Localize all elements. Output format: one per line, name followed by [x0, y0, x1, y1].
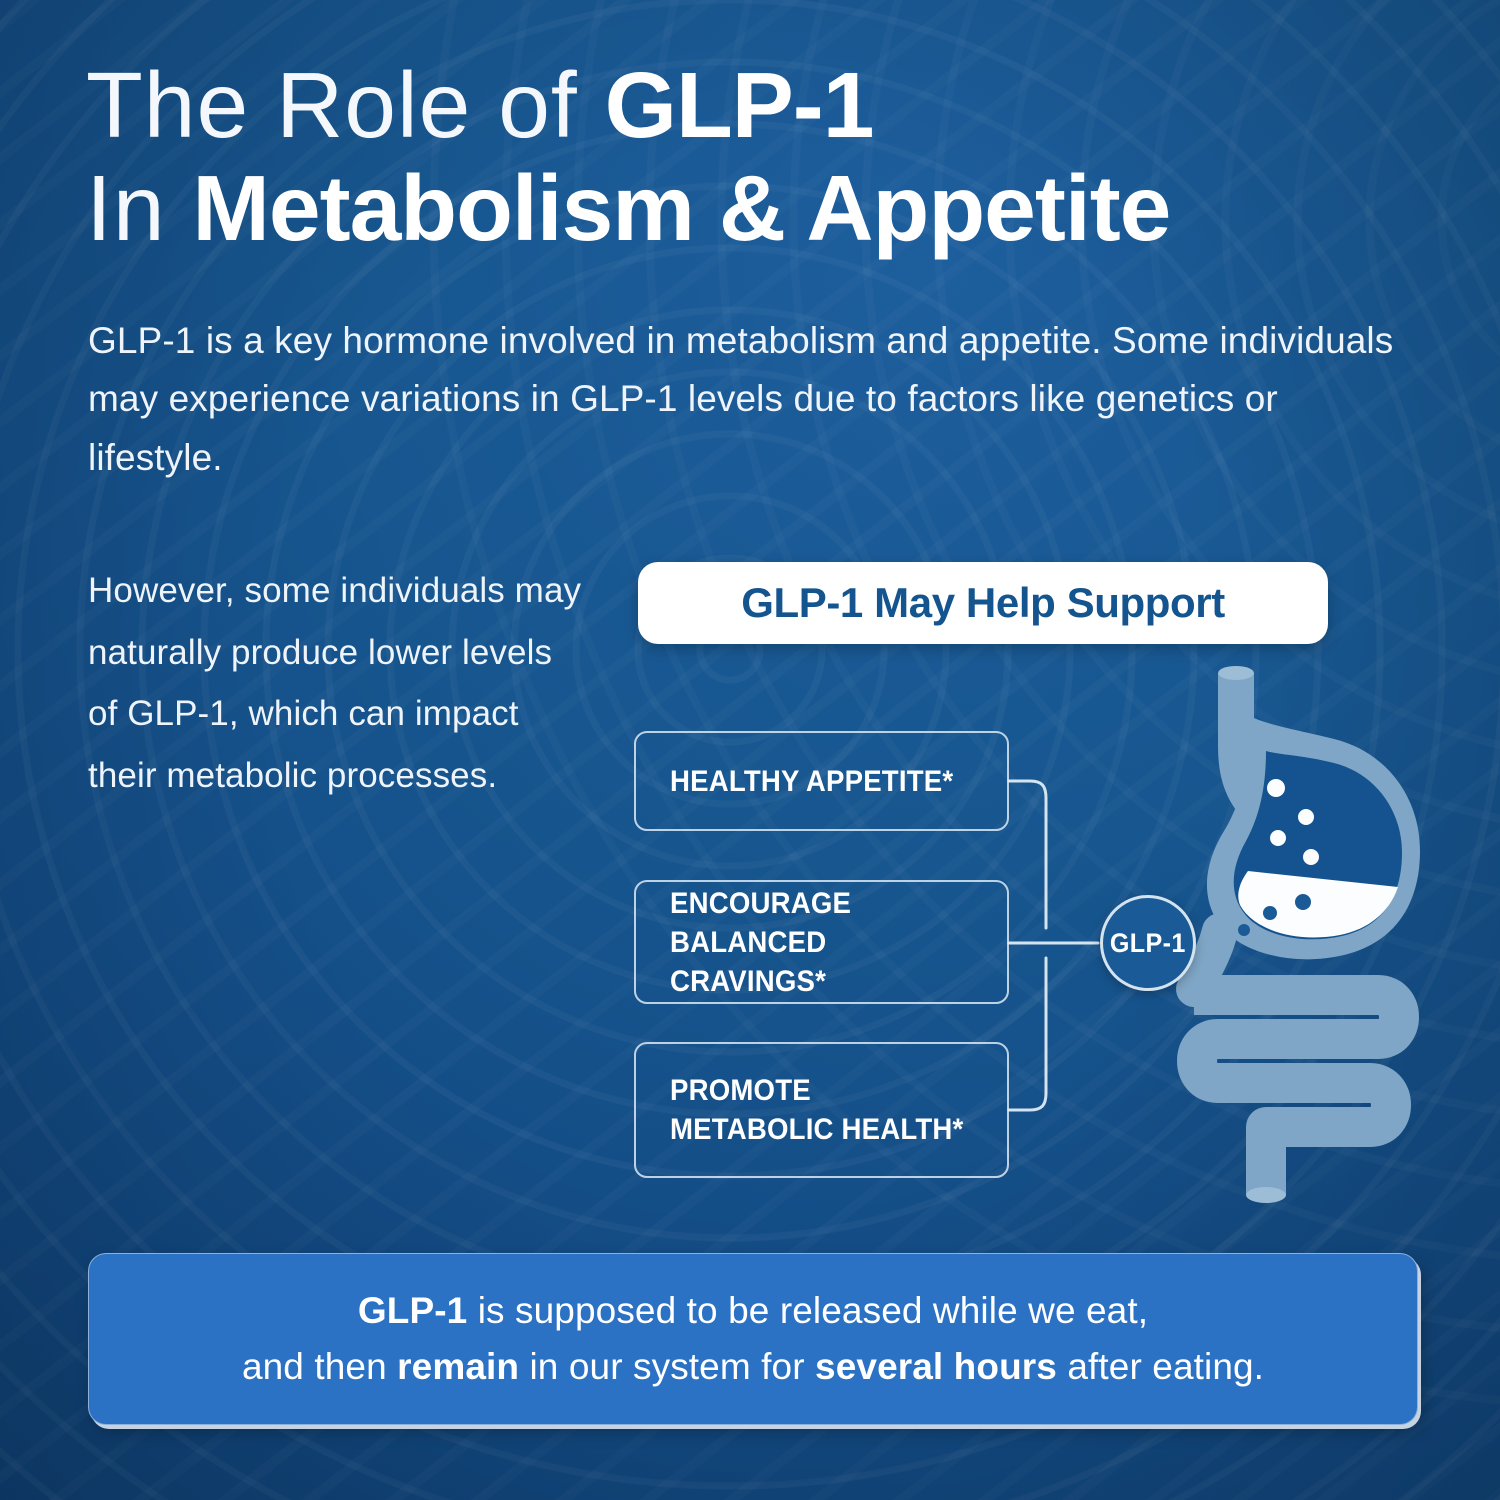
glp1-node-label: GLP-1 [1110, 928, 1186, 959]
page-title: The Role of GLP-1 In Metabolism & Appeti… [86, 58, 1426, 256]
bottom-callout-line-2-e: after eating. [1057, 1346, 1264, 1387]
title-line-1: The Role of GLP-1 [86, 58, 1426, 153]
title-line-2: In Metabolism & Appetite [86, 161, 1426, 256]
bottom-callout-text: GLP-1 is supposed to be released while w… [242, 1283, 1264, 1395]
bottom-callout-line-1: GLP-1 is supposed to be released while w… [242, 1283, 1264, 1339]
title-line-1-thin: The Role of [86, 53, 605, 157]
support-panel-header: GLP-1 May Help Support [638, 562, 1328, 644]
bottom-callout-line-2-bold-remain: remain [397, 1346, 519, 1387]
bottom-callout-banner: GLP-1 is supposed to be released while w… [88, 1253, 1418, 1425]
title-line-1-bold: GLP-1 [605, 53, 874, 157]
bottom-callout-line-2: and then remain in our system for severa… [242, 1339, 1264, 1395]
benefit-box-promote-metabolic-health[interactable]: PROMOTE METABOLIC HEALTH* [634, 1042, 1009, 1178]
benefit-box-encourage-balanced-cravings[interactable]: ENCOURAGE BALANCED CRAVINGS* [634, 880, 1009, 1004]
bottom-callout-line-2-bold-hours: several hours [815, 1346, 1057, 1387]
benefit-label: ENCOURAGE BALANCED CRAVINGS* [670, 884, 980, 1001]
glp1-node: GLP-1 [1100, 895, 1196, 991]
intro-paragraph: GLP-1 is a key hormone involved in metab… [88, 312, 1408, 487]
title-line-2-bold: Metabolism & Appetite [192, 156, 1170, 260]
benefit-label: PROMOTE METABOLIC HEALTH* [670, 1071, 980, 1149]
title-line-2-thin: In [86, 156, 192, 260]
infographic-canvas: The Role of GLP-1 In Metabolism & Appeti… [0, 0, 1500, 1500]
benefit-label: HEALTHY APPETITE* [670, 762, 953, 801]
bottom-callout-line-2-a: and then [242, 1346, 397, 1387]
bottom-callout-line-2-c: in our system for [519, 1346, 815, 1387]
support-panel-header-label: GLP-1 May Help Support [741, 579, 1225, 627]
left-column-paragraph: However, some individuals may naturally … [88, 560, 588, 806]
bottom-callout-line-1-rest: is supposed to be released while we eat, [467, 1290, 1148, 1331]
bottom-callout-line-1-bold: GLP-1 [358, 1290, 467, 1331]
benefit-box-healthy-appetite[interactable]: HEALTHY APPETITE* [634, 731, 1009, 831]
